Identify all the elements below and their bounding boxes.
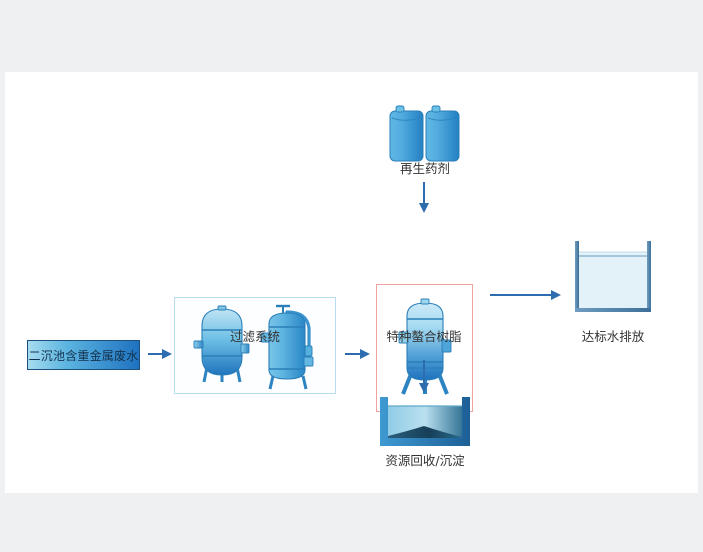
arrow-head xyxy=(551,290,561,300)
source-label-box[interactable]: 二沉池含重金属废水 xyxy=(27,340,140,370)
diagram-canvas: 二沉池含重金属废水 xyxy=(0,0,703,552)
arrow-head xyxy=(162,349,172,359)
chemical-drums-icon xyxy=(388,102,462,164)
arrow-shaft xyxy=(423,360,425,384)
arrow-resin-to-discharge xyxy=(490,290,562,301)
filtration-group-box[interactable] xyxy=(174,297,336,394)
filtration-caption: 过滤系统 xyxy=(174,329,336,345)
arrow-shaft xyxy=(423,182,425,204)
arrow-head xyxy=(419,203,429,213)
arrow-source-to-filtration xyxy=(148,349,172,360)
resin-caption: 特种螯合树脂 xyxy=(364,329,484,345)
content-panel: 二沉池含重金属废水 xyxy=(5,72,698,493)
tank-with-valve-icon xyxy=(257,300,329,392)
arrow-shaft xyxy=(345,353,361,355)
arrow-shaft xyxy=(148,353,163,355)
tank-icon xyxy=(191,305,253,389)
arrow-head xyxy=(360,349,370,359)
settling-basin-icon xyxy=(378,395,472,447)
reagent-drums[interactable] xyxy=(388,102,462,164)
discharge-tank[interactable] xyxy=(573,239,653,315)
reagent-caption: 再生药剂 xyxy=(375,161,475,177)
arrow-filtration-to-resin xyxy=(345,349,371,360)
arrow-reagent-to-resin xyxy=(419,182,430,213)
source-label-text: 二沉池含重金属废水 xyxy=(29,347,139,364)
arrow-resin-to-recovery xyxy=(419,360,430,393)
open-water-tank-icon xyxy=(573,239,653,315)
recovery-caption: 资源回收/沉淀 xyxy=(363,453,487,469)
recovery-basin[interactable] xyxy=(378,395,472,447)
discharge-caption: 达标水排放 xyxy=(553,329,673,345)
arrow-head xyxy=(419,383,429,393)
arrow-shaft xyxy=(490,294,552,296)
